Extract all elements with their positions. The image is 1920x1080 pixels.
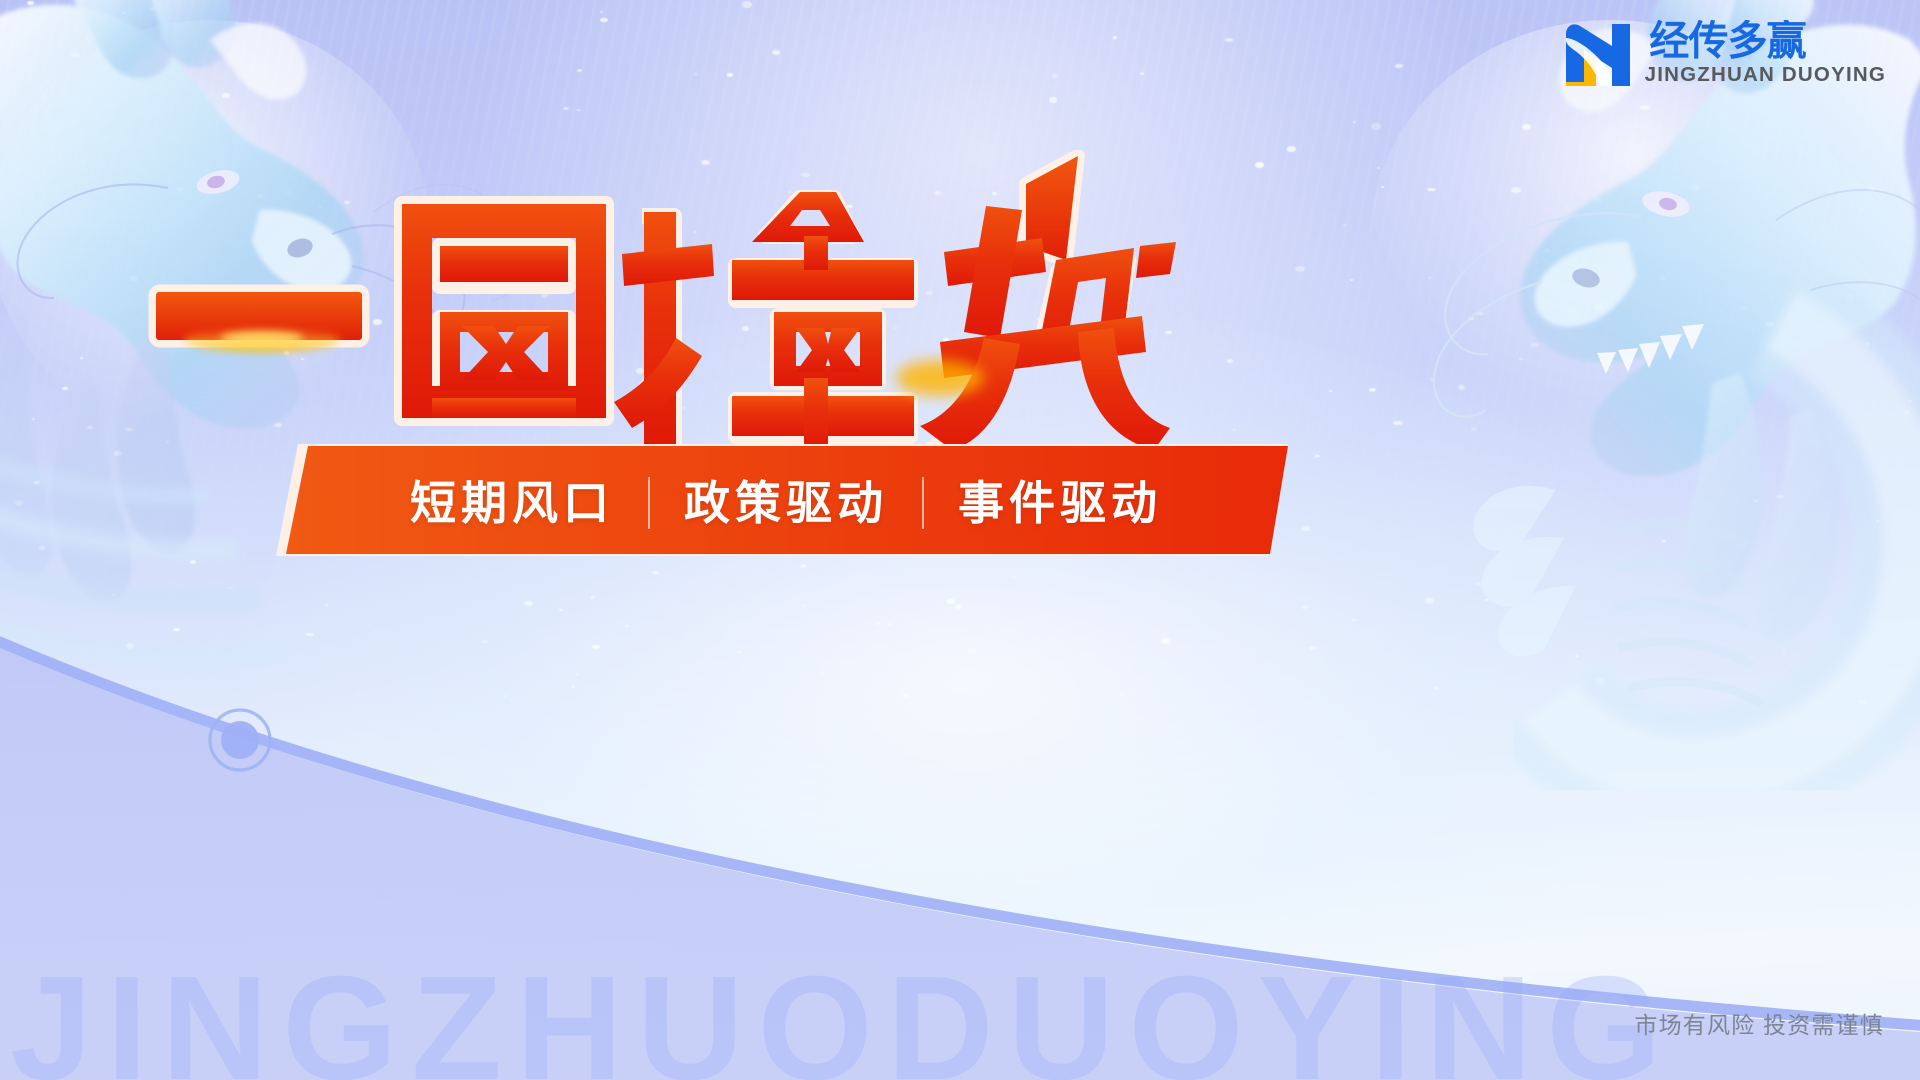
subtitle-item: 短期风口 xyxy=(376,480,648,526)
background-watermark: JINGZHUODUOYING xyxy=(10,944,1675,1080)
risk-disclaimer: 市场有风险 投资需谨慎 xyxy=(1634,1006,1884,1040)
logo-chinese-wordmark: 经传多赢 xyxy=(1644,20,1876,62)
title-char-2 xyxy=(402,204,606,418)
brand-logo[interactable]: 经传多赢 JINGZHUAN DUOYING xyxy=(1560,18,1886,88)
svg-text:经传多赢: 经传多赢 xyxy=(1649,20,1806,62)
hero-title-artwork xyxy=(140,150,1200,450)
title-char-4 xyxy=(896,156,1176,450)
promo-banner: JINGZHUODUOYING 经传多赢 JINGZHUAN DUOYING xyxy=(0,0,1920,1080)
title-char-3 xyxy=(614,192,914,450)
subtitle-item: 事件驱动 xyxy=(924,480,1196,526)
logo-pinyin: JINGZHUAN DUOYING xyxy=(1645,65,1886,86)
subtitle-item: 政策驱动 xyxy=(650,480,922,526)
hero-title xyxy=(0,150,1340,450)
jingzhuan-n-mark-icon xyxy=(1560,18,1634,88)
title-char-1 xyxy=(156,292,362,352)
hero-subtitle-bar: 短期风口政策驱动事件驱动 xyxy=(268,438,1288,568)
